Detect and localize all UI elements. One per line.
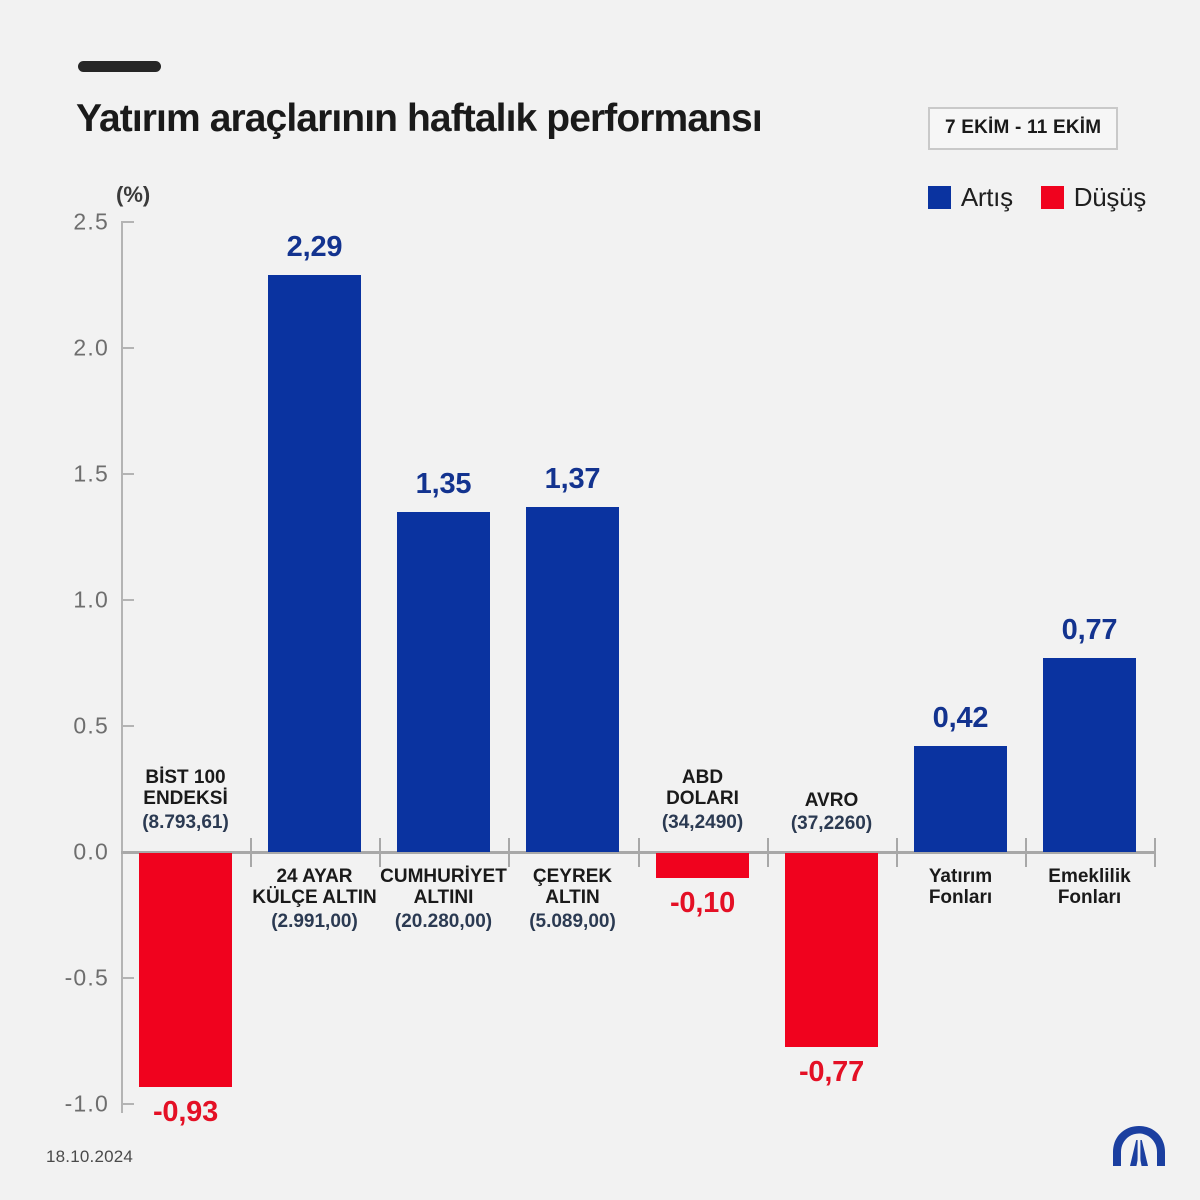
y-axis-tick-label: 0.0: [43, 839, 109, 866]
bar-label-line1: Emeklilik: [1048, 866, 1130, 887]
y-axis-tick-mark: [121, 977, 134, 979]
bar-value-avro: -0,77: [755, 1056, 908, 1089]
bar-value-ceyrek-altin: 1,37: [496, 463, 649, 496]
y-axis-tick-label: 2.5: [43, 209, 109, 236]
bar-chart-plot: (%) 2.52.01.51.00.50.0-0.5-1.0 -0,93BİST…: [0, 0, 1200, 1200]
category-tick: [250, 838, 252, 867]
y-axis-tick-label: -1.0: [43, 1091, 109, 1118]
bar-label-line2: DOLARI: [666, 788, 739, 809]
bar-label-line2: ALTIN: [545, 887, 600, 908]
y-axis-tick-label: 1.5: [43, 461, 109, 488]
category-tick: [379, 838, 381, 867]
bar-label-line1: 24 AYAR: [276, 866, 352, 887]
bar-label-bist-100-endeksi: BİST 100ENDEKSİ(8.793,61): [107, 767, 264, 833]
bar-label-line2: Fonları: [1058, 887, 1121, 908]
bar-label-line1: ABD: [682, 767, 723, 788]
bar-bist-100-endeksi: [139, 853, 232, 1087]
bar-label-line1: ÇEYREK: [533, 866, 612, 887]
bar-yatirim-fonlari: [914, 746, 1007, 852]
bar-value-24-ayar-kulce-altin: 2,29: [238, 231, 391, 264]
y-axis-tick-label: -0.5: [43, 965, 109, 992]
publish-date: 18.10.2024: [46, 1147, 133, 1167]
y-axis-unit-label: (%): [116, 182, 150, 208]
y-axis-tick-mark: [121, 473, 134, 475]
y-axis-tick-mark: [121, 599, 134, 601]
bar-label-line2: Fonları: [929, 887, 992, 908]
bar-ceyrek-altin: [526, 507, 619, 852]
bar-avro: [785, 853, 878, 1047]
bar-label-sub: (37,2260): [753, 813, 910, 834]
category-tick: [508, 838, 510, 867]
category-tick: [896, 838, 898, 867]
bar-label-line1: AVRO: [805, 790, 858, 811]
bar-value-emeklilik-fonlari: 0,77: [1013, 614, 1166, 647]
bar-label-line2: KÜLÇE ALTIN: [252, 887, 377, 908]
bar-abd-dolari: [656, 853, 749, 878]
bar-label-line1: BİST 100: [145, 767, 225, 788]
bar-label-line2: ENDEKSİ: [143, 788, 227, 809]
bar-label-avro: AVRO(37,2260): [753, 790, 910, 835]
bar-label-line1: CUMHURİYET: [380, 866, 507, 887]
bar-24-ayar-kulce-altin: [268, 275, 361, 852]
category-tick: [1025, 838, 1027, 867]
infographic-page: Yatırım araçlarının haftalık performansı…: [0, 0, 1200, 1200]
y-axis-tick-label: 1.0: [43, 587, 109, 614]
category-tick: [638, 838, 640, 867]
y-axis-tick-mark: [121, 221, 134, 223]
bar-value-yatirim-fonlari: 0,42: [884, 702, 1037, 735]
bar-emeklilik-fonlari: [1043, 658, 1136, 852]
y-axis-tick-label: 2.0: [43, 335, 109, 362]
y-axis-tick-mark: [121, 725, 134, 727]
bar-value-abd-dolari: -0,10: [626, 887, 779, 920]
y-axis-tick-mark: [121, 347, 134, 349]
bar-label-line2: ALTINI: [414, 887, 474, 908]
bar-label-line1: Yatırım: [929, 866, 992, 887]
bar-label-sub: (8.793,61): [107, 812, 264, 833]
category-tick: [1154, 838, 1156, 867]
y-axis-line: [121, 222, 123, 1113]
bar-label-emeklilik-fonlari: EmeklilikFonları: [1011, 866, 1168, 909]
bar-cumhuriyet-altini: [397, 512, 490, 852]
aa-logo-icon: [1108, 1122, 1170, 1170]
category-tick: [767, 838, 769, 867]
bar-value-bist-100-endeksi: -0,93: [109, 1096, 262, 1129]
y-axis-tick-label: 0.5: [43, 713, 109, 740]
